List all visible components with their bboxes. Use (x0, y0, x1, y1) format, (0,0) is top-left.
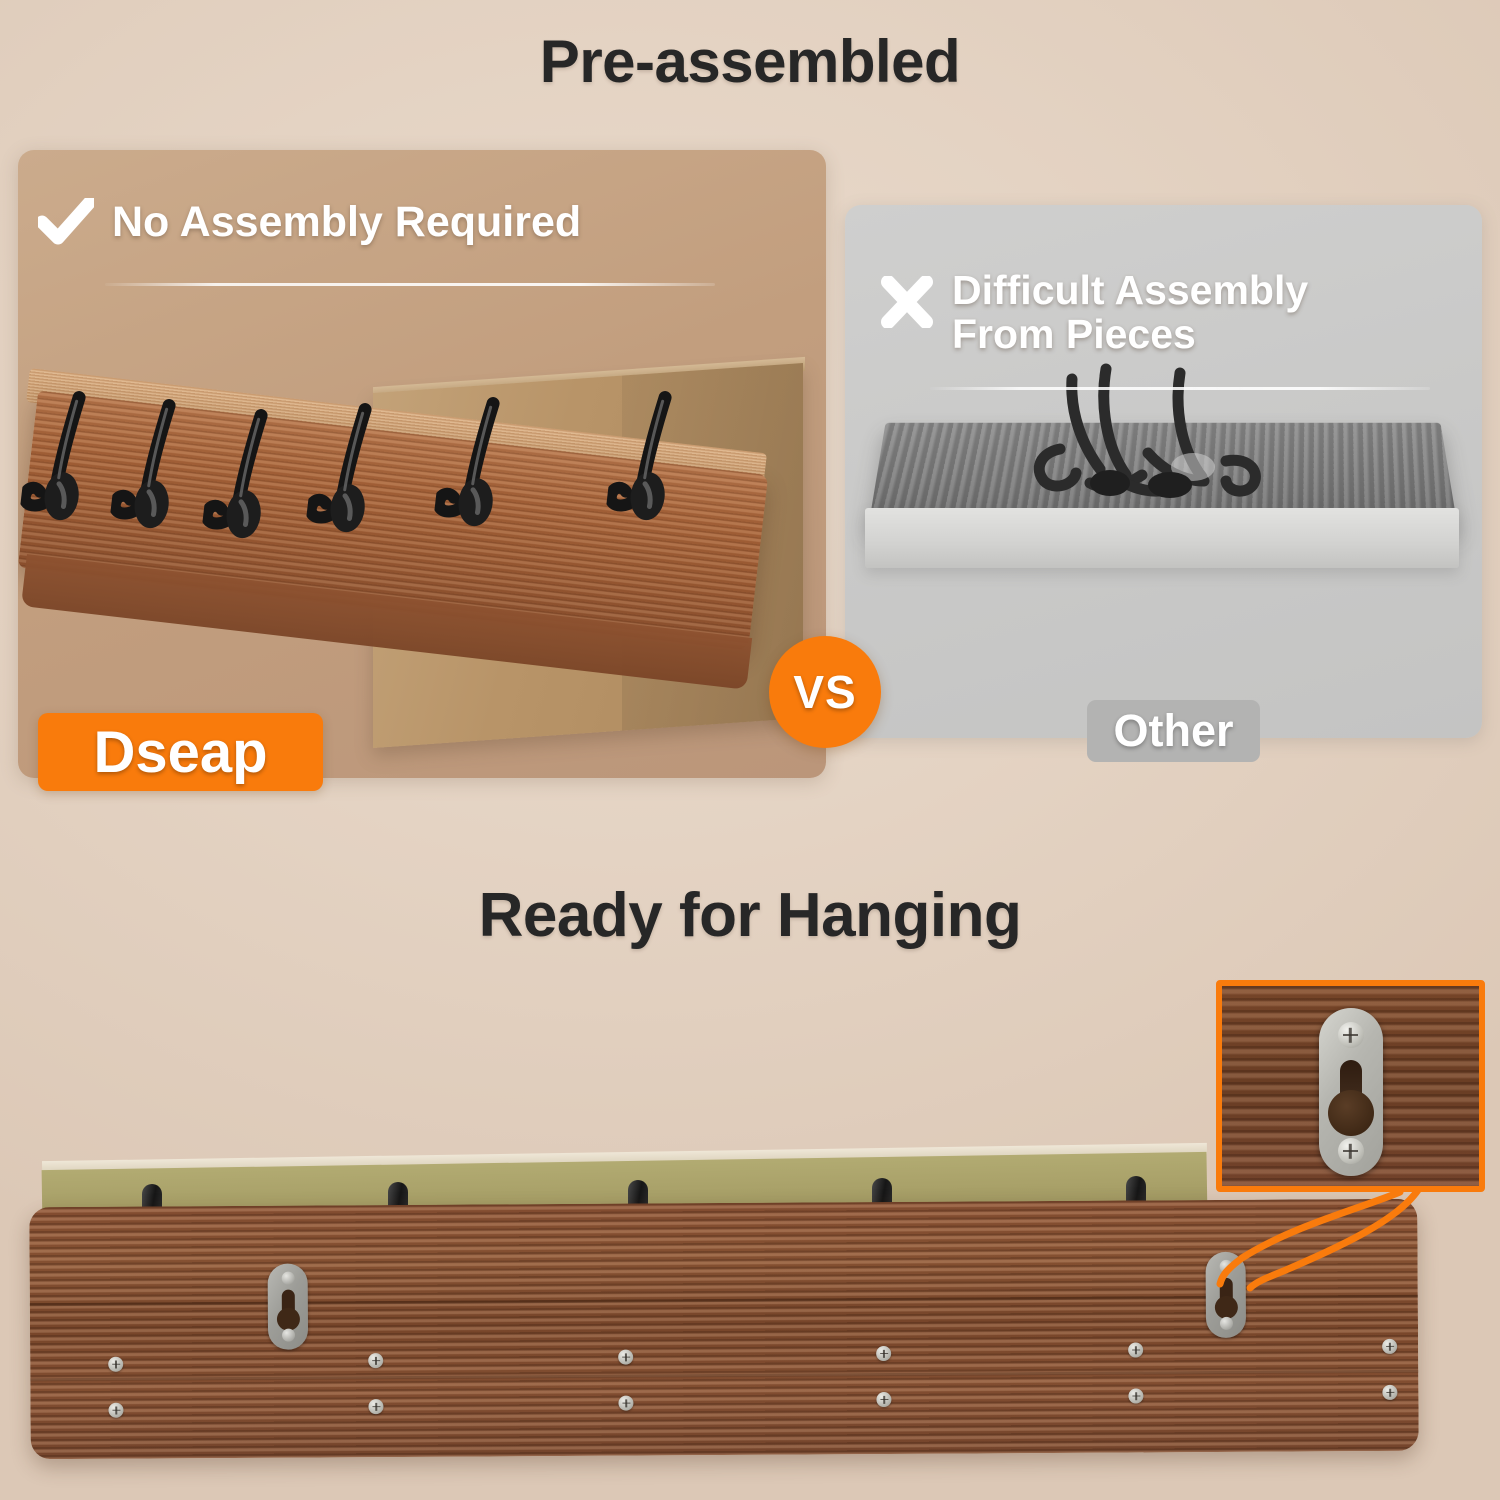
divider-left (105, 283, 715, 286)
screw-icon (1382, 1385, 1397, 1400)
screw-icon (108, 1357, 123, 1372)
screw-icon (876, 1346, 891, 1361)
feature-label-line2: From Pieces (952, 312, 1308, 356)
cross-icon (880, 276, 934, 328)
divider-right (930, 387, 1430, 390)
check-icon (38, 198, 94, 248)
screw-icon (1128, 1388, 1143, 1403)
keyhole-zoom-callout (1216, 980, 1485, 1192)
keyhole-hanger (268, 1264, 309, 1350)
loose-hooks-pile (1030, 357, 1310, 532)
feature-label-difficult-assembly: Difficult Assembly From Pieces (952, 268, 1308, 357)
keyhole-hanger-icon (1319, 1008, 1383, 1176)
keyhole-hole (1328, 1090, 1374, 1136)
page-title-pre-assembled: Pre-assembled (0, 27, 1500, 96)
screw-icon (1338, 1138, 1364, 1164)
product-infographic: Pre-assembled (0, 0, 1500, 1500)
screw-icon (281, 1272, 294, 1285)
screw-icon (876, 1392, 891, 1407)
brand-badge-dseap: Dseap (38, 713, 323, 791)
screw-icon (368, 1353, 383, 1368)
screw-icon (368, 1399, 383, 1414)
brand-badge-other: Other (1087, 700, 1260, 762)
page-title-ready-for-hanging: Ready for Hanging (0, 880, 1500, 951)
screw-icon (281, 1329, 294, 1342)
keyhole-hole (276, 1308, 299, 1331)
feature-row-difficult-assembly: Difficult Assembly From Pieces (880, 268, 1308, 357)
screw-icon (1128, 1342, 1143, 1357)
vs-badge: VS (769, 636, 881, 748)
screw-icon (1338, 1022, 1364, 1048)
screw-icon (618, 1396, 633, 1411)
screw-icon (618, 1350, 633, 1365)
screw-icon (108, 1403, 123, 1418)
feature-label-line1: Difficult Assembly (952, 268, 1308, 312)
screw-icon (1382, 1339, 1397, 1354)
feature-row-no-assembly: No Assembly Required (38, 198, 581, 248)
feature-label-no-assembly: No Assembly Required (112, 198, 581, 247)
